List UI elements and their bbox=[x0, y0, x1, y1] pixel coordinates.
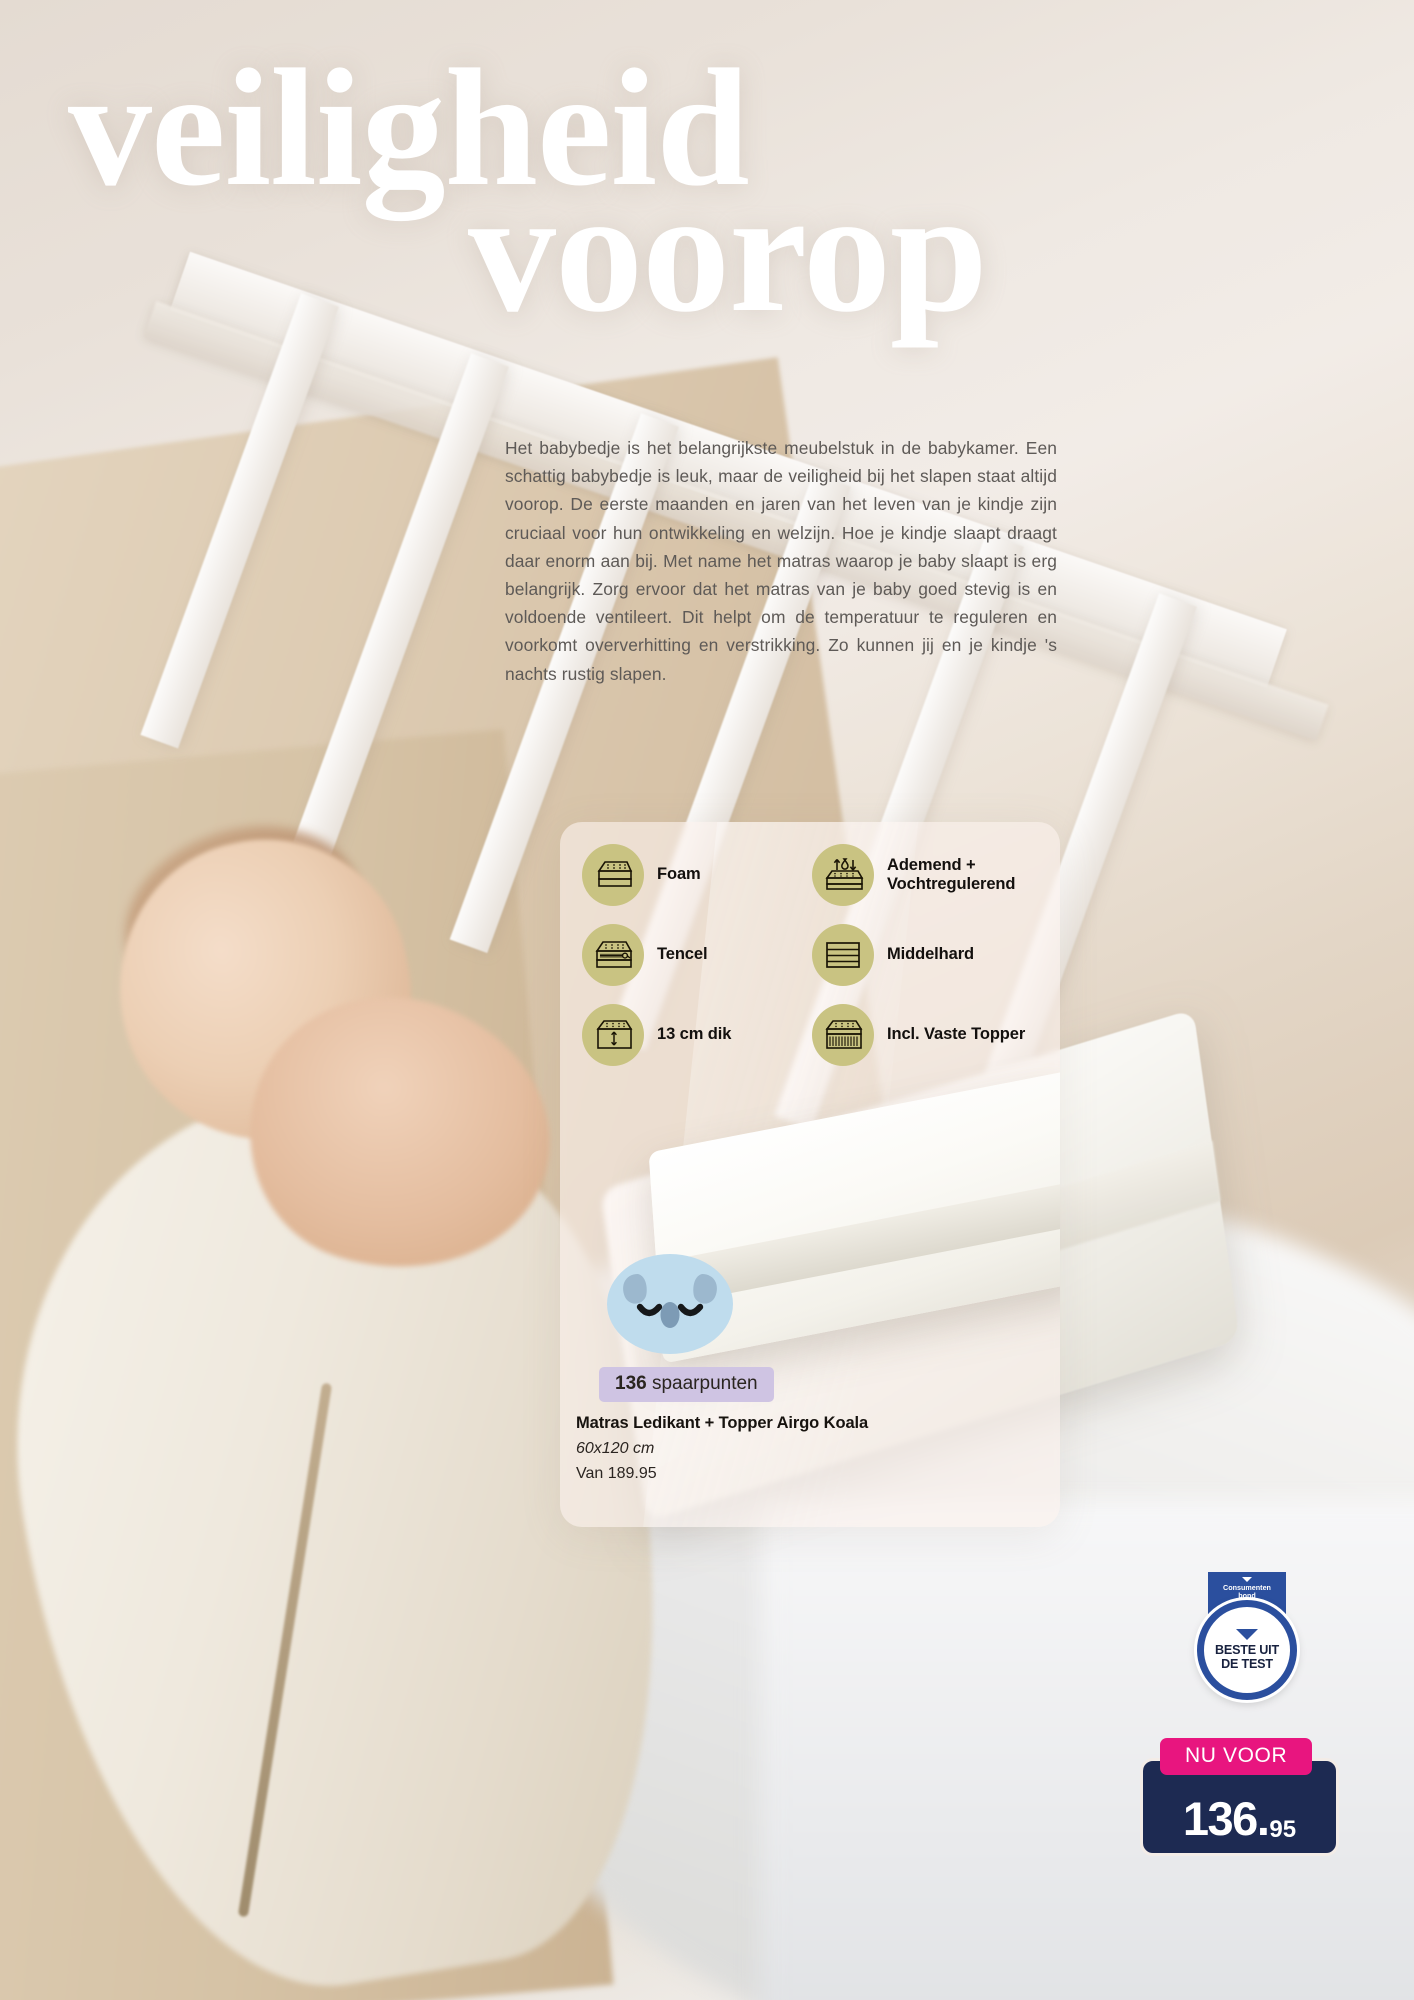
consumentenbond-best-test-badge: Consumenten bond BESTE UIT DE TEST bbox=[1188, 1572, 1306, 1720]
intro-paragraph: Het babybedje is het belangrijkste meube… bbox=[505, 434, 1057, 688]
price-amount: 136. bbox=[1183, 1795, 1268, 1842]
price-label-badge: NU VOOR bbox=[1160, 1738, 1312, 1775]
product-card[interactable]: Foam bbox=[560, 822, 1060, 1527]
feature-item-topper: Incl. Vaste Topper bbox=[812, 1004, 1042, 1066]
best-test-line-2: DE TEST bbox=[1215, 1658, 1279, 1672]
feature-label: Tencel bbox=[657, 945, 707, 964]
loyalty-points-unit: spaarpunten bbox=[652, 1373, 758, 1394]
mattress-zipper-tencel-icon bbox=[582, 924, 644, 986]
mattress-topper-icon bbox=[812, 1004, 874, 1066]
triangle-down-icon bbox=[1236, 1629, 1258, 1640]
feature-label: Incl. Vaste Topper bbox=[887, 1025, 1025, 1044]
consumentenbond-ribbon-text: Consumenten bond bbox=[1223, 1584, 1271, 1600]
product-old-price: Van 189.95 bbox=[576, 1465, 657, 1483]
loyalty-points-value: 136 bbox=[615, 1373, 647, 1394]
product-name: Matras Ledikant + Topper Airgo Koala bbox=[576, 1414, 1046, 1433]
feature-label: Middelhard bbox=[887, 945, 974, 964]
mattress-firmness-icon bbox=[812, 924, 874, 986]
mattress-thickness-icon bbox=[582, 1004, 644, 1066]
feature-item-firmness: Middelhard bbox=[812, 924, 1042, 986]
product-size: 60x120 cm bbox=[576, 1440, 654, 1458]
feature-label: Foam bbox=[657, 865, 701, 884]
photo-duvet-2 bbox=[760, 1500, 1414, 2000]
best-test-circle: BESTE UIT DE TEST bbox=[1197, 1600, 1297, 1700]
feature-item-foam: Foam bbox=[582, 844, 812, 906]
triangle-icon bbox=[1242, 1577, 1252, 1582]
feature-item-thickness: 13 cm dik bbox=[582, 1004, 812, 1066]
feature-item-tencel: Tencel bbox=[582, 924, 812, 986]
feature-item-breathable: Ademend + Vochtregulerend bbox=[812, 844, 1042, 906]
feature-label: 13 cm dik bbox=[657, 1025, 731, 1044]
feature-label: Ademend + Vochtregulerend bbox=[887, 856, 1042, 895]
best-test-line-1: BESTE UIT bbox=[1215, 1644, 1279, 1658]
feature-list: Foam bbox=[582, 844, 1042, 1066]
mattress-breathable-moisture-icon bbox=[812, 844, 874, 906]
best-test-text: BESTE UIT DE TEST bbox=[1215, 1644, 1279, 1671]
koala-face-icon bbox=[605, 1252, 735, 1355]
loyalty-points-badge: 136 spaarpunten bbox=[599, 1367, 774, 1402]
mattress-foam-icon bbox=[582, 844, 644, 906]
price-cents: 95 bbox=[1269, 1818, 1296, 1842]
